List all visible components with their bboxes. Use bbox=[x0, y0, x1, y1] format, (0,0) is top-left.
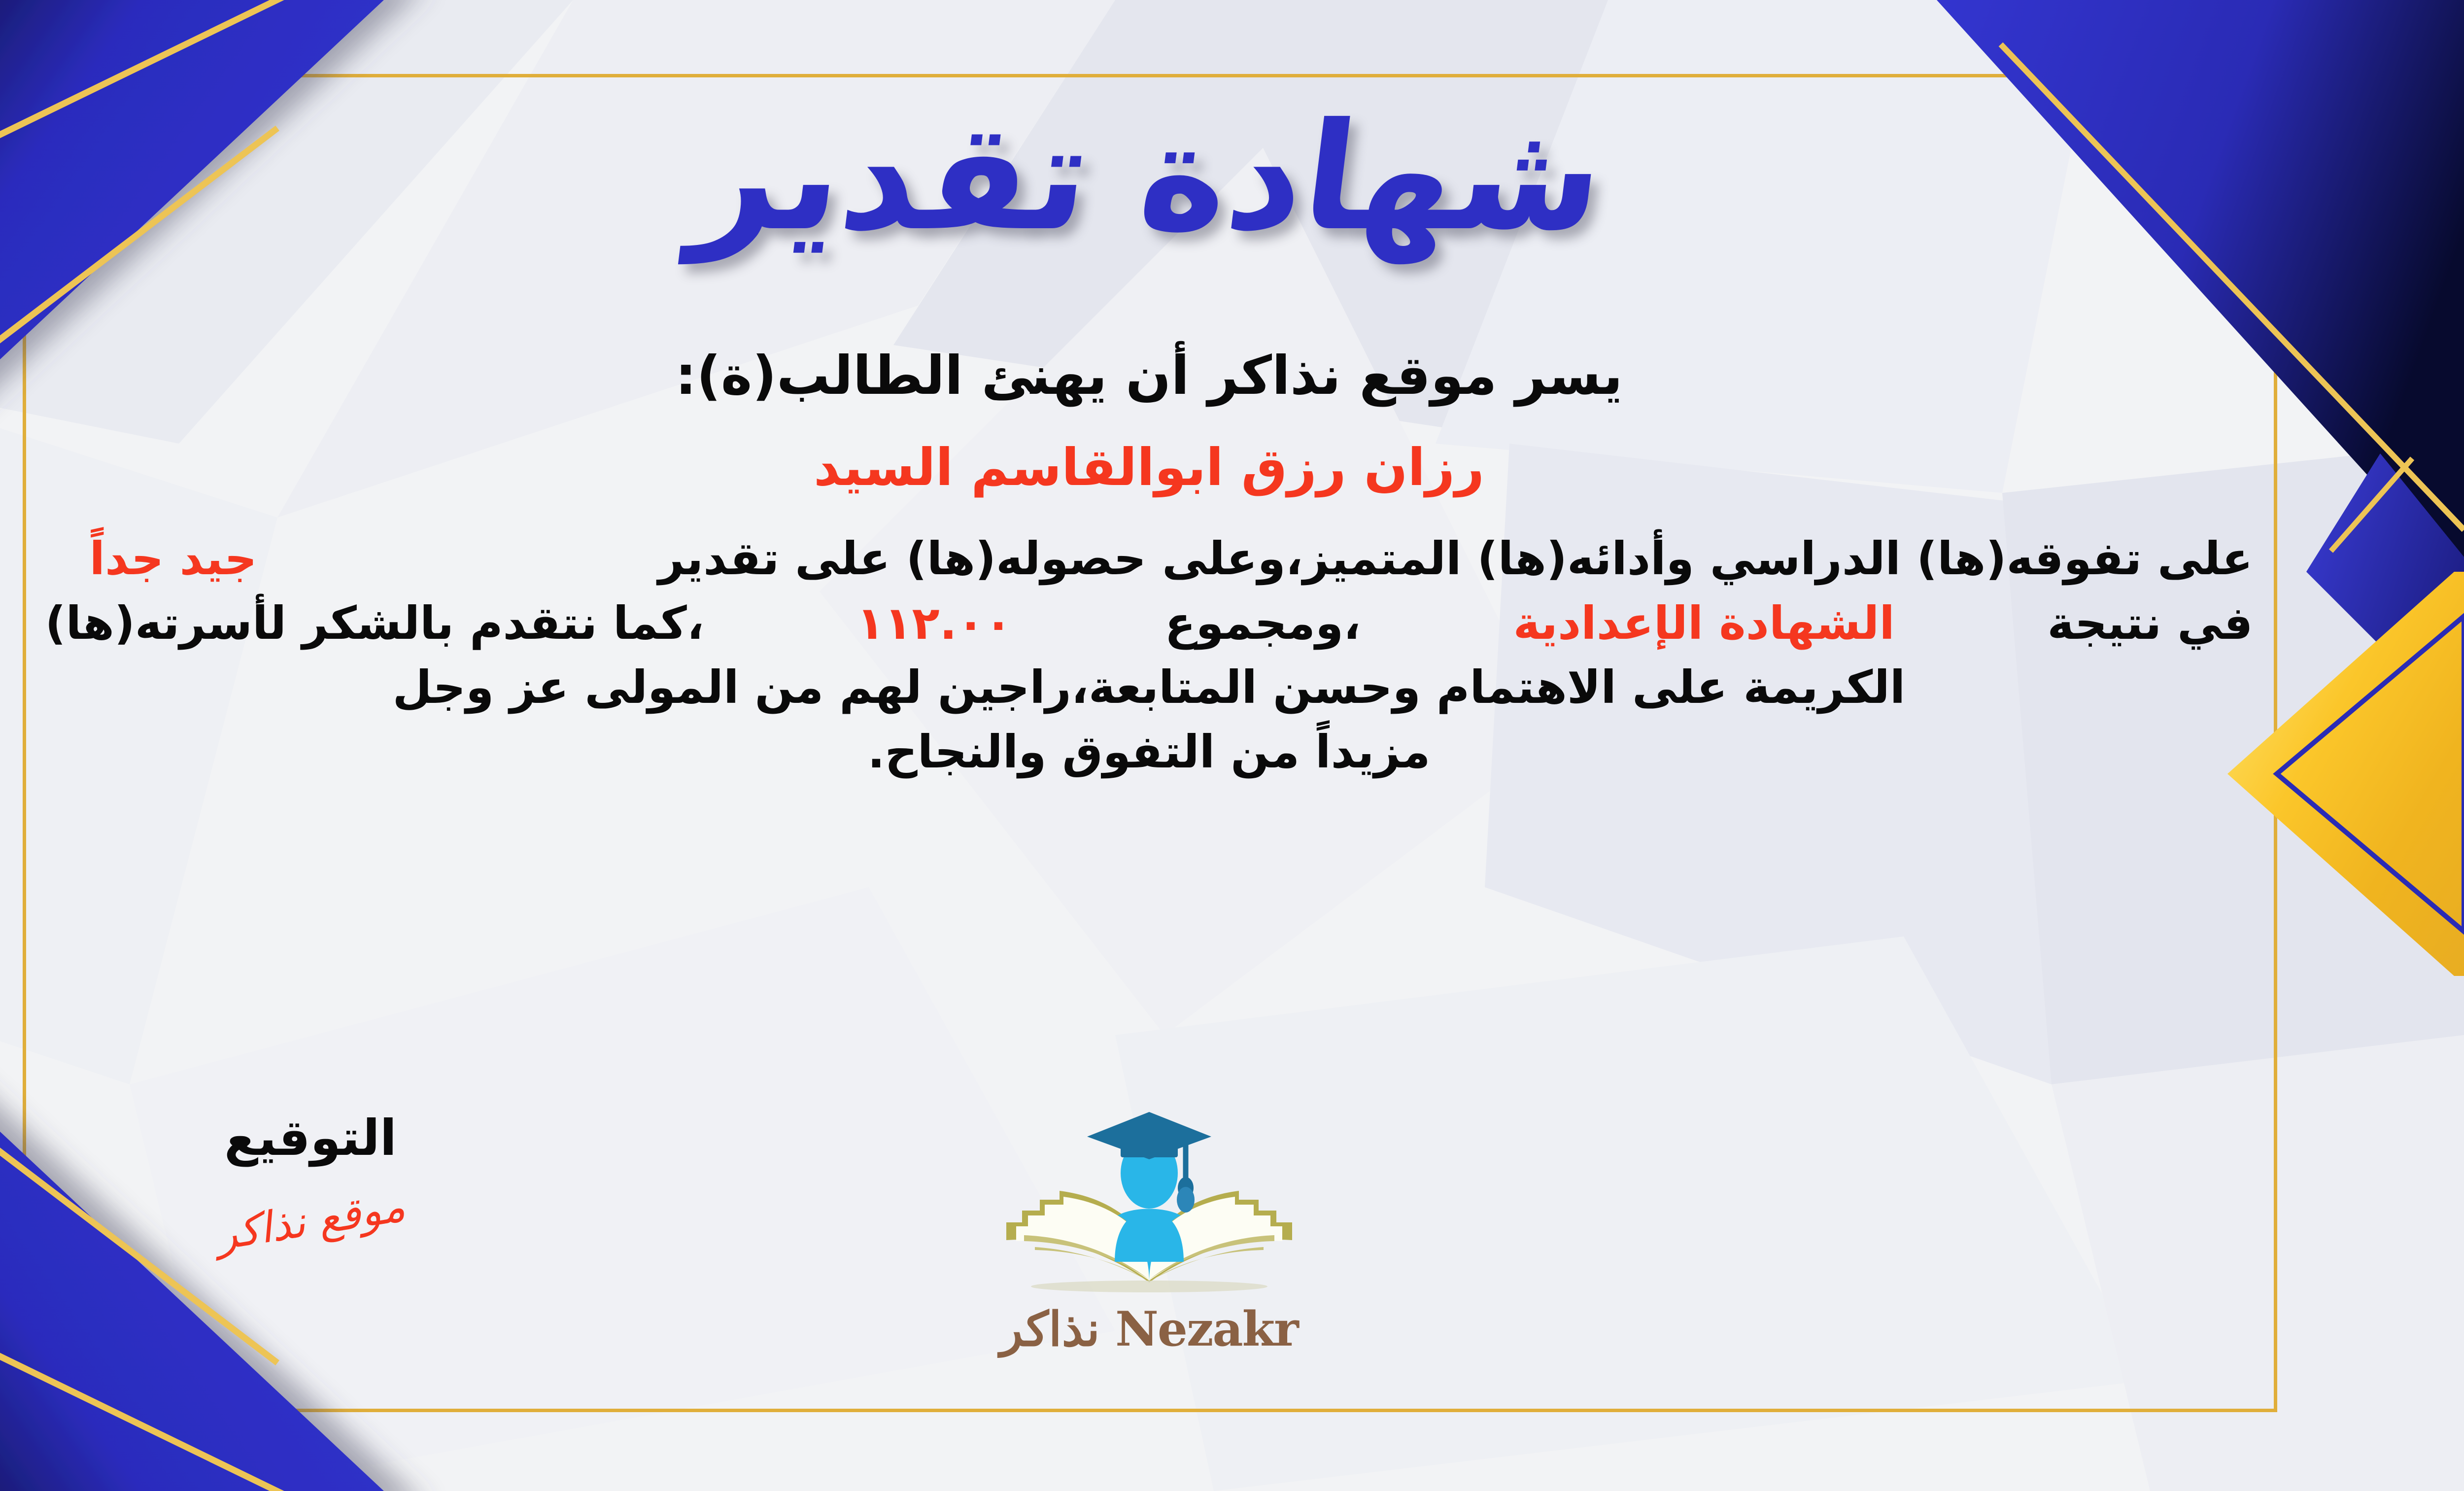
certificate-canvas: شهادة تقدير يسر موقع نذاكر أن يهنئ الطال… bbox=[0, 0, 2464, 1491]
exam-name: الشهادة الإعدادية bbox=[1513, 591, 1895, 656]
body-line-1-text: على تفوقه(ها) الدراسي وأدائه(ها) المتميز… bbox=[658, 527, 2253, 591]
grade-value: جيد جداً bbox=[45, 527, 257, 591]
body-line-3: الكريمة على الاهتمام وحسن المتابعة،راجين… bbox=[45, 656, 2253, 720]
greeting-text: يسر موقع نذاكر أن يهنئ الطالب(ة): bbox=[675, 345, 1623, 407]
graduate-book-logo-icon bbox=[977, 1099, 1322, 1306]
body-line-2-prefix: في نتيجة bbox=[2047, 591, 2253, 656]
body-line-1: على تفوقه(ها) الدراسي وأدائه(ها) المتميز… bbox=[45, 527, 2253, 591]
body-paragraph: على تفوقه(ها) الدراسي وأدائه(ها) المتميز… bbox=[45, 527, 2253, 785]
body-line-4: مزيداً من التفوق والنجاح. bbox=[45, 720, 2253, 785]
body-line-2-suffix: ،كما نتقدم بالشكر لأسرته(ها) bbox=[45, 591, 704, 656]
brand-logo-text: Nezakr نذاكر bbox=[947, 1301, 1351, 1357]
page-title: شهادة تقدير bbox=[686, 104, 1612, 251]
body-line-2-mid: ،ومجموع bbox=[1164, 591, 1361, 656]
body-line-2: في نتيجة الشهادة الإعدادية ،ومجموع ١١٢.٠… bbox=[45, 591, 2253, 656]
signature-label: التوقيع bbox=[158, 1109, 463, 1167]
signature-mark: موقع نذاكر bbox=[213, 1181, 409, 1260]
certificate-footer: التوقيع موقع نذاكر bbox=[0, 1109, 2464, 1434]
student-name: رزان رزق ابوالقاسم السيد bbox=[814, 437, 1484, 497]
brand-logo: Nezakr نذاكر bbox=[947, 1099, 1351, 1357]
signature-block: التوقيع موقع نذاكر bbox=[158, 1109, 463, 1246]
title-container: شهادة تقدير bbox=[0, 74, 2464, 281]
total-score: ١١٢.٠٠ bbox=[856, 591, 1012, 656]
